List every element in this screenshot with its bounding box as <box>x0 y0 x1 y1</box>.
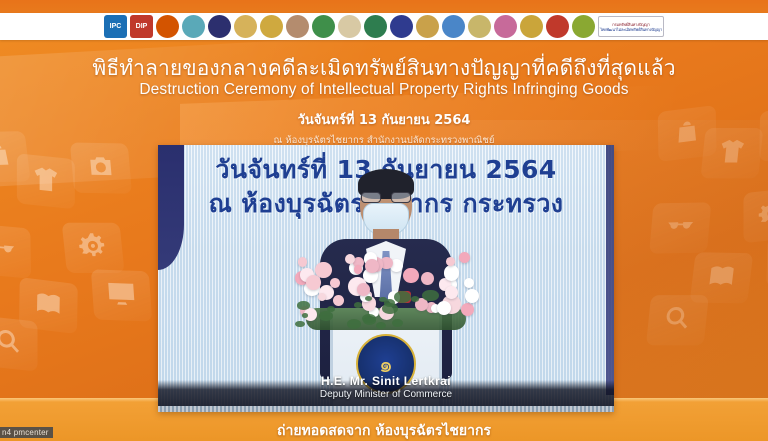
flower-leaf <box>354 302 362 308</box>
dip-logo-label: DIP <box>136 23 148 30</box>
agency-logo-8 <box>286 15 309 38</box>
event-subtitle-block: วันจันทร์ที่ 13 กันยายน 2564 ณ ห้องบุรฉั… <box>0 109 768 148</box>
flower-blossom <box>464 278 474 288</box>
dip-logo: DIP <box>130 15 153 38</box>
event-title-english: Destruction Ceremony of Intellectual Pro… <box>0 81 768 100</box>
tisi-logo <box>390 15 413 38</box>
speaker-role: Deputy Minister of Commerce <box>158 389 614 400</box>
flower-leaf <box>422 290 439 302</box>
top-orange-band <box>0 0 768 13</box>
flower-leaf <box>392 319 403 327</box>
agency-logo-10 <box>338 15 361 38</box>
agency-logo-17 <box>520 15 543 38</box>
flower-leaf <box>302 313 308 317</box>
flower-blossom <box>365 259 379 273</box>
watermark-tag: n4 pmcenter <box>0 427 53 438</box>
flower-blossom <box>465 289 479 303</box>
agency-logo-14 <box>442 15 465 38</box>
broadcast-source-text: ถ่ายทอดสดจาก ห้องบุรฉัตรไชยากร <box>0 420 768 441</box>
flower-blossom <box>403 268 419 284</box>
garuda-logo <box>546 15 569 38</box>
agency-logo-6 <box>234 15 257 38</box>
flower-leaf <box>327 306 335 312</box>
ipc-logo: IPC <box>104 15 127 38</box>
flower-blossom <box>298 257 308 267</box>
agency-logo-19 <box>572 15 595 38</box>
speaker-caption: H.E. Mr. Sinit Lertkrai Deputy Minister … <box>158 374 614 400</box>
agency-logo-3 <box>156 15 179 38</box>
partner-logo-strip: IPCDIPกรมทรัพย์สินทางปัญญาไทยพัฒนาไม่ละเ… <box>0 13 768 40</box>
speaker-glasses <box>361 192 411 203</box>
agency-logo-16 <box>494 15 517 38</box>
speaker-name: H.E. Mr. Sinit Lertkrai <box>158 374 614 388</box>
flower-arrangement <box>291 248 481 326</box>
agency-logo-4 <box>182 15 205 38</box>
flower-leaf <box>411 296 419 302</box>
ipc-logo-label: IPC <box>110 23 122 30</box>
flower-blossom <box>345 254 355 264</box>
agency-logo-9 <box>312 15 335 38</box>
flower-blossom <box>445 286 458 299</box>
flower-leaf <box>295 321 305 328</box>
flower-blossom <box>333 295 344 306</box>
agency-logo-11 <box>364 15 387 38</box>
event-date: วันจันทร์ที่ 13 กันยายน 2564 <box>0 109 768 130</box>
flower-leaf <box>394 291 411 303</box>
agency-logo-15 <box>468 15 491 38</box>
flower-leaf <box>365 296 372 301</box>
flower-blossom <box>437 301 451 315</box>
flower-blossom <box>444 265 459 280</box>
event-title-block: พิธีทำลายของกลางคดีละเมิดทรัพย์สินทางปัญ… <box>0 56 768 100</box>
event-title-thai: พิธีทำลายของกลางคดีละเมิดทรัพย์สินทางปัญ… <box>0 56 768 80</box>
live-stream-player[interactable]: วันจันทร์ที่ 13 กันยายน 2564 ณ ห้องบุรฉั… <box>158 145 614 412</box>
ip-department-wordmark: กรมทรัพย์สินทางปัญญาไทยพัฒนาไม่ละเมิดทรั… <box>598 16 664 37</box>
flower-blossom <box>459 252 470 263</box>
flower-blossom <box>318 293 326 301</box>
flower-leaf <box>319 311 333 321</box>
flower-blossom <box>461 303 474 316</box>
event-venue: ณ ห้องบุรฉัตรไชยากร สำนักงานปลัดกระทรวงพ… <box>0 133 768 148</box>
flower-blossom <box>330 278 339 287</box>
flower-blossom <box>446 257 455 266</box>
flower-leaf <box>384 299 395 307</box>
flower-blossom <box>421 272 434 285</box>
agency-logo-13 <box>416 15 439 38</box>
agency-logo-7 <box>260 15 283 38</box>
agency-logo-5 <box>208 15 231 38</box>
screen-root: IPCDIPกรมทรัพย์สินทางปัญญาไทยพัฒนาไม่ละเ… <box>0 0 768 441</box>
flower-leaf <box>297 301 309 310</box>
wordmark-line2: ไทยพัฒนาไม่ละเมิดทรัพย์สินทางปัญญา <box>600 27 662 32</box>
video-scanline-artifact <box>158 406 614 412</box>
